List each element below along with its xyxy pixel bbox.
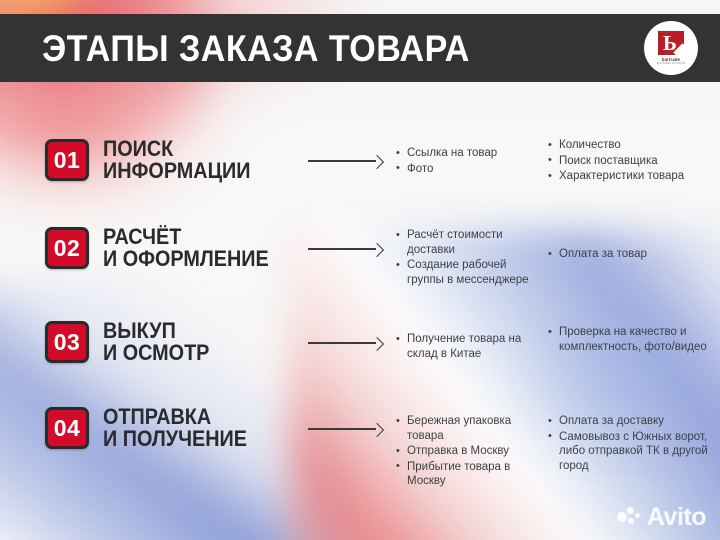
arrow-cell-2	[300, 226, 390, 254]
avito-dot	[628, 518, 634, 524]
list-item: Количество	[548, 138, 720, 153]
bullet-list: Оплата за доставку Самовывоз с Южных вор…	[548, 414, 720, 473]
step-title-line2: И ОФОРМЛЕНИЕ	[103, 248, 269, 270]
bullet-list: Расчёт стоимости доставки Создание рабоч…	[396, 228, 540, 287]
avito-dot	[627, 507, 634, 514]
step-2-column-1: Расчёт стоимости доставки Создание рабоч…	[390, 226, 540, 288]
company-logo: Ь bartrade ДОСТАВКА ИЗ КИТАЯ	[644, 21, 698, 75]
arrow-cell-3	[300, 320, 390, 348]
list-item: Поиск поставщика	[548, 154, 720, 169]
list-item: Оплата за товар	[548, 247, 720, 262]
avito-watermark: Avito	[617, 505, 706, 530]
bullet-list: Проверка на качество и комплектность, фо…	[548, 325, 720, 354]
step-row-3: 03 ВЫКУП И ОСМОТР Получение товара на ск…	[0, 320, 720, 364]
page-title: ЭТАПЫ ЗАКАЗА ТОВАРА	[42, 30, 470, 67]
step-title-line2: И ПОЛУЧЕНИЕ	[103, 428, 247, 450]
arrow-shaft	[308, 342, 376, 344]
list-item: Создание рабочей группы в мессенджере	[396, 258, 540, 287]
step-row-1: 01 ПОИСК ИНФОРМАЦИИ Ссылка на товар Фото…	[0, 138, 720, 185]
step-title-1: ПОИСК ИНФОРМАЦИИ	[103, 138, 251, 182]
arrow-cell-4	[300, 406, 390, 434]
arrow-right-icon	[308, 424, 382, 434]
step-number-badge-4: 04	[45, 407, 89, 449]
step-2-column-2: Оплата за товар	[540, 226, 720, 263]
bullet-list: Оплата за товар	[548, 247, 720, 262]
step-block-3: 03 ВЫКУП И ОСМОТР	[0, 320, 300, 364]
step-block-2: 02 РАСЧЁТ И ОФОРМЛЕНИЕ	[0, 226, 300, 270]
avito-dot	[635, 513, 640, 518]
arrow-head	[370, 243, 384, 257]
arrow-head	[370, 423, 384, 437]
arrow-right-icon	[308, 244, 382, 254]
list-item: Оплата за доставку	[548, 414, 720, 429]
logo-mark-icon: Ь	[658, 31, 684, 55]
list-item: Ссылка на товар	[396, 146, 540, 161]
avito-dots-icon	[617, 507, 643, 529]
step-title-line2: ИНФОРМАЦИИ	[103, 160, 251, 182]
logo-tagline: ДОСТАВКА ИЗ КИТАЯ	[657, 62, 686, 65]
step-3-column-2: Проверка на качество и комплектность, фо…	[540, 320, 720, 355]
step-row-4: 04 ОТПРАВКА И ПОЛУЧЕНИЕ Бережная упаковк…	[0, 406, 720, 490]
list-item: Отправка в Москву	[396, 444, 540, 459]
step-number-badge-2: 02	[45, 227, 89, 269]
step-4-column-2: Оплата за доставку Самовывоз с Южных вор…	[540, 406, 720, 474]
list-item: Характеристики товара	[548, 169, 720, 184]
infographic-canvas: ЭТАПЫ ЗАКАЗА ТОВАРА Ь bartrade ДОСТАВКА …	[0, 0, 720, 540]
step-number-badge-3: 03	[45, 321, 89, 363]
list-item: Фото	[396, 162, 540, 177]
list-item: Прибытие товара в Москву	[396, 460, 540, 489]
avito-wordmark: Avito	[647, 505, 706, 530]
list-item: Проверка на качество и комплектность, фо…	[548, 325, 720, 354]
step-number-badge-1: 01	[45, 139, 89, 181]
arrow-right-icon	[308, 156, 382, 166]
step-title-3: ВЫКУП И ОСМОТР	[103, 320, 209, 364]
step-1-column-2: Количество Поиск поставщика Характеристи…	[540, 138, 720, 185]
step-block-1: 01 ПОИСК ИНФОРМАЦИИ	[0, 138, 300, 182]
header-bar: ЭТАПЫ ЗАКАЗА ТОВАРА Ь bartrade ДОСТАВКА …	[0, 14, 720, 82]
arrow-shaft	[308, 248, 376, 250]
bullet-list: Получение товара на склад в Китае	[396, 332, 540, 361]
list-item: Получение товара на склад в Китае	[396, 332, 540, 361]
step-1-column-1: Ссылка на товар Фото	[390, 138, 540, 177]
list-item: Расчёт стоимости доставки	[396, 228, 540, 257]
avito-dot	[617, 512, 627, 522]
step-title-4: ОТПРАВКА И ПОЛУЧЕНИЕ	[103, 406, 247, 450]
step-3-column-1: Получение товара на склад в Китае	[390, 320, 540, 362]
bullet-list: Количество Поиск поставщика Характеристи…	[548, 138, 720, 184]
arrow-head	[370, 337, 384, 351]
arrow-head	[370, 155, 384, 169]
arrow-cell-1	[300, 138, 390, 166]
step-title-line2: И ОСМОТР	[103, 342, 209, 364]
step-4-column-1: Бережная упаковка товара Отправка в Моск…	[390, 406, 540, 490]
list-item: Бережная упаковка товара	[396, 414, 540, 443]
step-title-2: РАСЧЁТ И ОФОРМЛЕНИЕ	[103, 226, 269, 270]
arrow-shaft	[308, 428, 376, 430]
arrow-shaft	[308, 160, 376, 162]
arrow-right-icon	[308, 338, 382, 348]
bullet-list: Бережная упаковка товара Отправка в Моск…	[396, 414, 540, 489]
bullet-list: Ссылка на товар Фото	[396, 146, 540, 176]
step-row-2: 02 РАСЧЁТ И ОФОРМЛЕНИЕ Расчёт стоимости …	[0, 226, 720, 288]
step-block-4: 04 ОТПРАВКА И ПОЛУЧЕНИЕ	[0, 406, 300, 450]
list-item: Самовывоз с Южных ворот, либо отправкой …	[548, 430, 720, 474]
